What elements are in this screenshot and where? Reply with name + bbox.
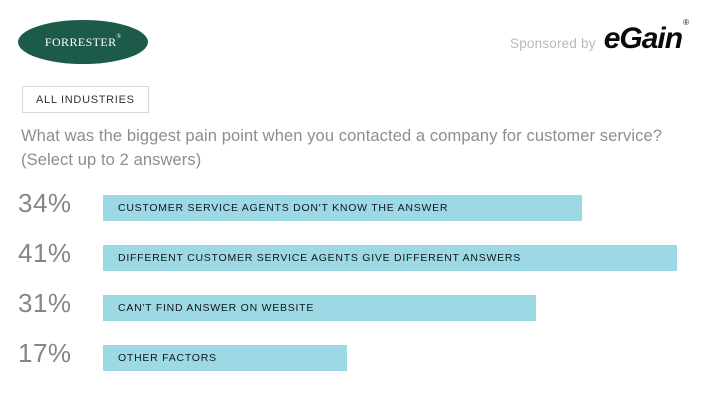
egain-logo: eGain® (604, 24, 687, 54)
forrester-logo: FORRESTER® (18, 20, 148, 64)
bar-1: DIFFERENT CUSTOMER SERVICE AGENTS GIVE D… (103, 245, 677, 271)
page-header: FORRESTER® Sponsored by eGain® (0, 0, 707, 72)
all-industries-badge[interactable]: ALL INDUSTRIES (22, 86, 149, 113)
forrester-logo-text: FORRESTER (45, 32, 117, 50)
all-industries-badge-label: ALL INDUSTRIES (36, 94, 135, 106)
chart-row: 31% CAN'T FIND ANSWER ON WEBSITE (0, 286, 707, 336)
chart-row: 17% OTHER FACTORS (0, 336, 707, 386)
horizontal-bar-chart: 34% CUSTOMER SERVICE AGENTS DON'T KNOW T… (0, 186, 707, 386)
bar-label: DIFFERENT CUSTOMER SERVICE AGENTS GIVE D… (103, 252, 521, 264)
sponsored-by-label: Sponsored by (510, 36, 596, 51)
egain-registered-mark: ® (683, 18, 688, 27)
bar-value: 41% (18, 236, 90, 270)
bar-3: OTHER FACTORS (103, 345, 347, 371)
bar-label: CUSTOMER SERVICE AGENTS DON'T KNOW THE A… (103, 202, 448, 214)
bar-label: OTHER FACTORS (103, 352, 217, 364)
bar-value: 17% (18, 336, 90, 370)
forrester-registered-mark: ® (117, 34, 122, 40)
egain-logo-text: eGain (604, 22, 682, 55)
chart-row: 41% DIFFERENT CUSTOMER SERVICE AGENTS GI… (0, 236, 707, 286)
chart-row: 34% CUSTOMER SERVICE AGENTS DON'T KNOW T… (0, 186, 707, 236)
bar-value: 31% (18, 286, 90, 320)
bar-2: CAN'T FIND ANSWER ON WEBSITE (103, 295, 536, 321)
sponsor-block: Sponsored by eGain® (510, 24, 687, 54)
bar-label: CAN'T FIND ANSWER ON WEBSITE (103, 302, 314, 314)
bar-value: 34% (18, 186, 90, 220)
bar-0: CUSTOMER SERVICE AGENTS DON'T KNOW THE A… (103, 195, 582, 221)
survey-question: What was the biggest pain point when you… (21, 124, 686, 172)
